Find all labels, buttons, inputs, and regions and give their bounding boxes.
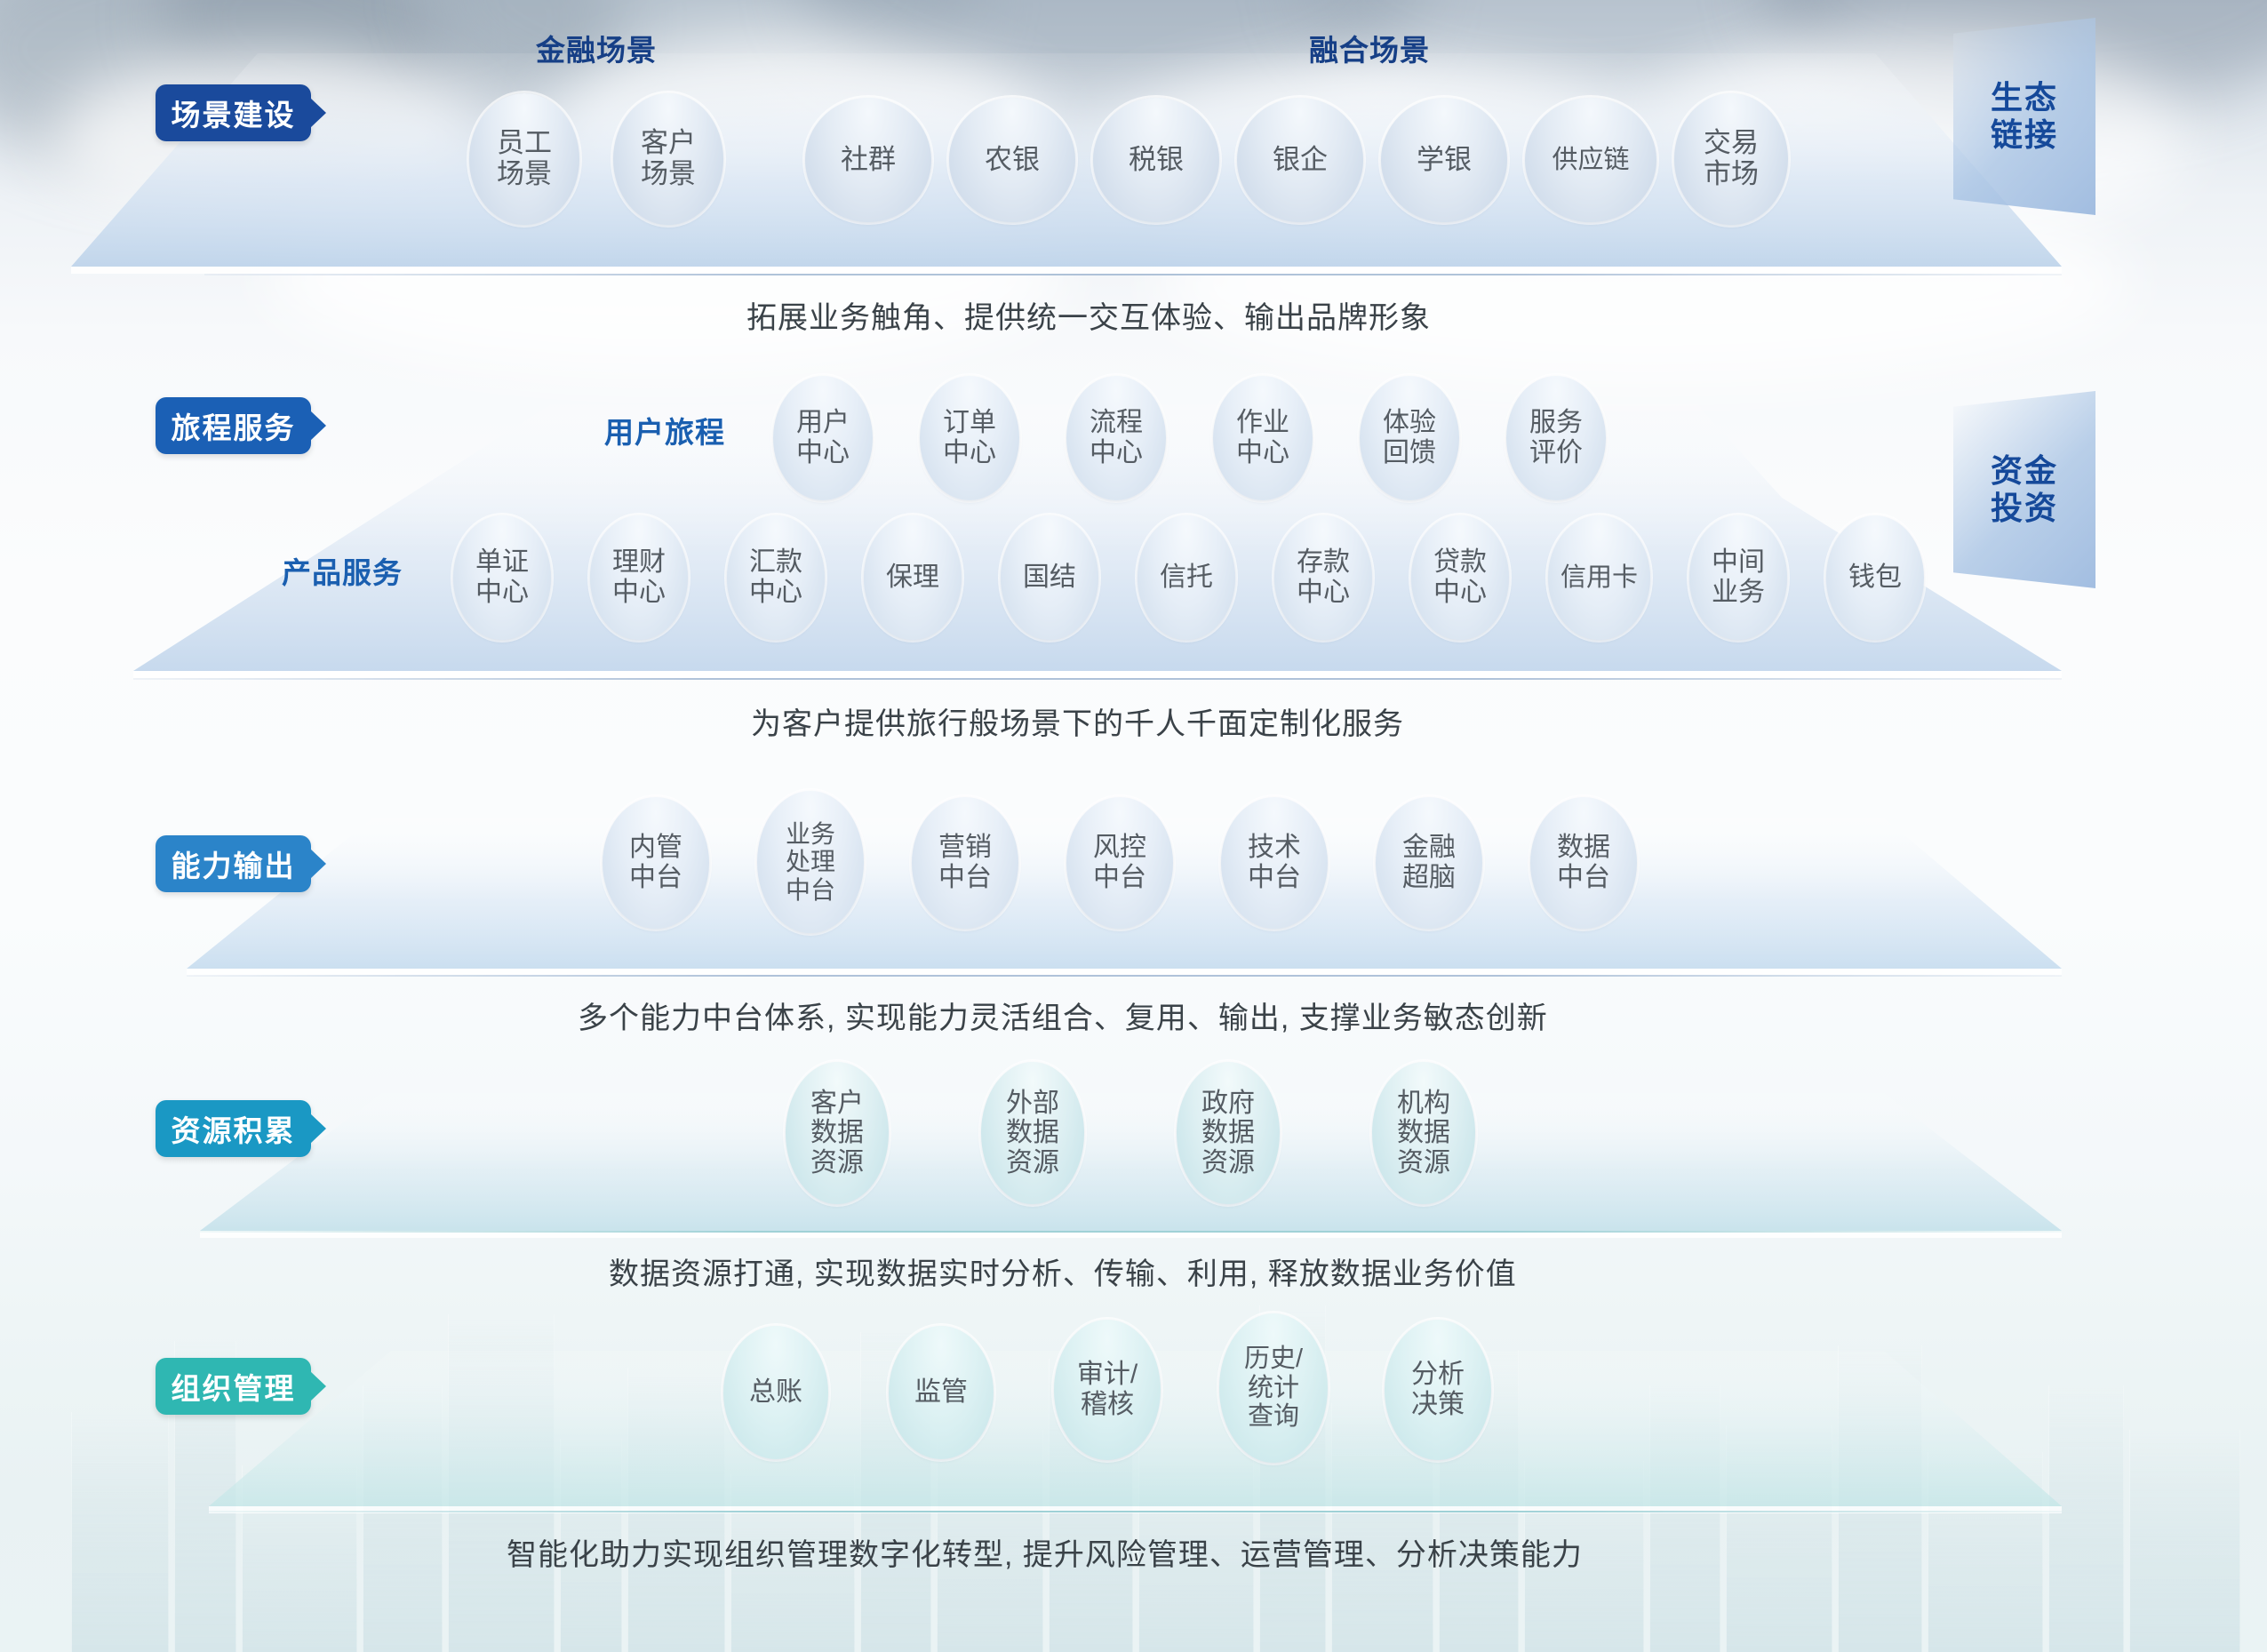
caption-scene: 拓展业务触角、提供统一交互体验、输出品牌形象 xyxy=(746,293,1431,337)
node-customer-data-resource[interactable]: 客户数据资源 xyxy=(786,1062,889,1204)
divider-scene xyxy=(204,274,2062,275)
divider-capability xyxy=(187,975,2062,977)
tag-scene[interactable]: 场景建设 xyxy=(156,84,311,141)
tag-journey-label: 旅程服务 xyxy=(172,404,296,447)
node-supply-chain[interactable]: 供应链 xyxy=(1525,98,1656,222)
node-service-evaluation[interactable]: 服务评价 xyxy=(1506,376,1606,500)
tag-scene-label: 场景建设 xyxy=(172,92,296,134)
node-deposit-center[interactable]: 存款中心 xyxy=(1274,515,1372,640)
node-tax-bank[interactable]: 税银 xyxy=(1093,98,1219,222)
node-institution-data-resource[interactable]: 机构数据资源 xyxy=(1372,1062,1475,1204)
node-operation-center[interactable]: 作业中心 xyxy=(1213,376,1313,500)
node-customer-scene[interactable]: 客户场景 xyxy=(613,93,723,225)
tag-capability-label: 能力输出 xyxy=(172,842,296,885)
node-remittance-center[interactable]: 汇款中心 xyxy=(727,515,825,640)
node-agri-bank[interactable]: 农银 xyxy=(949,98,1075,222)
node-factoring[interactable]: 保理 xyxy=(864,515,962,640)
caption-resource: 数据资源打通, 实现数据实时分析、传输、利用, 释放数据业务价值 xyxy=(609,1249,1517,1293)
node-experience-feedback[interactable]: 体验回馈 xyxy=(1360,376,1459,500)
node-employee-scene[interactable]: 员工场景 xyxy=(469,93,579,225)
node-user-center[interactable]: 用户中心 xyxy=(773,376,873,500)
architecture-diagram: 场景建设 金融场景 融合场景 员工场景 客户场景 社群 农银 税银 银企 学银 … xyxy=(0,0,2267,1652)
node-intermediary-business[interactable]: 中间业务 xyxy=(1689,515,1787,640)
divider-organization xyxy=(209,1511,2062,1512)
caption-capability: 多个能力中台体系, 实现能力灵活组合、复用、输出, 支撑业务敏态创新 xyxy=(578,994,1548,1037)
tag-capability[interactable]: 能力输出 xyxy=(156,835,311,892)
tag-resource[interactable]: 资源积累 xyxy=(156,1100,311,1157)
group-label-financial-scene: 金融场景 xyxy=(536,27,657,69)
node-technology-midend[interactable]: 技术中台 xyxy=(1221,797,1328,929)
node-document-center[interactable]: 单证中心 xyxy=(453,515,551,640)
node-community[interactable]: 社群 xyxy=(805,98,931,222)
caption-journey: 为客户提供旅行般场景下的千人千面定制化服务 xyxy=(751,699,1404,743)
node-data-midend[interactable]: 数据中台 xyxy=(1530,797,1637,929)
group-label-fusion-scene: 融合场景 xyxy=(1309,27,1430,69)
node-wallet[interactable]: 钱包 xyxy=(1826,515,1924,640)
group-label-user-journey: 用户旅程 xyxy=(604,409,725,451)
ribbon-fund-text: 资金 投资 xyxy=(1991,452,2058,528)
node-loan-center[interactable]: 贷款中心 xyxy=(1411,515,1509,640)
tag-organization[interactable]: 组织管理 xyxy=(156,1358,311,1415)
group-label-product-service: 产品服务 xyxy=(282,549,403,592)
node-supervision[interactable]: 监管 xyxy=(889,1326,994,1459)
node-business-processing-midend[interactable]: 业务处理中台 xyxy=(757,791,864,933)
node-government-data-resource[interactable]: 政府数据资源 xyxy=(1177,1062,1280,1204)
tag-journey[interactable]: 旅程服务 xyxy=(156,397,311,454)
node-external-data-resource[interactable]: 外部数据资源 xyxy=(981,1062,1084,1204)
tag-resource-label: 资源积累 xyxy=(172,1107,296,1150)
node-international-settlement[interactable]: 国结 xyxy=(1001,515,1098,640)
node-order-center[interactable]: 订单中心 xyxy=(920,376,1019,500)
node-financial-brain[interactable]: 金融超脑 xyxy=(1376,797,1482,929)
ribbon-ecosystem-link: 生态 链接 xyxy=(1953,18,2095,215)
caption-organization: 智能化助力实现组织管理数字化转型, 提升风险管理、运营管理、分析决策能力 xyxy=(507,1530,1583,1574)
node-risk-control-midend[interactable]: 风控中台 xyxy=(1066,797,1173,929)
ribbon-ecosystem-text: 生态 链接 xyxy=(1991,79,2058,155)
node-process-center[interactable]: 流程中心 xyxy=(1066,376,1166,500)
node-marketing-midend[interactable]: 营销中台 xyxy=(912,797,1018,929)
node-credit-card[interactable]: 信用卡 xyxy=(1548,515,1650,640)
node-internal-mgmt-midend[interactable]: 内管中台 xyxy=(603,797,709,929)
node-school-bank[interactable]: 学银 xyxy=(1381,98,1507,222)
node-trading-market[interactable]: 交易市场 xyxy=(1674,93,1788,225)
node-general-ledger[interactable]: 总账 xyxy=(723,1326,828,1459)
node-wealth-center[interactable]: 理财中心 xyxy=(590,515,688,640)
node-audit-inspection[interactable]: 审计/稽核 xyxy=(1054,1320,1161,1460)
node-bank-enterprise[interactable]: 银企 xyxy=(1237,98,1363,222)
node-analysis-decision[interactable]: 分析决策 xyxy=(1385,1320,1491,1460)
tag-organization-label: 组织管理 xyxy=(172,1365,296,1408)
divider-resource xyxy=(200,1231,2062,1233)
ribbon-fund-investment: 资金 投资 xyxy=(1953,391,2095,588)
divider-journey xyxy=(133,678,2062,680)
node-history-statistics-query[interactable]: 历史/统计查询 xyxy=(1219,1313,1328,1463)
node-trust[interactable]: 信托 xyxy=(1137,515,1235,640)
